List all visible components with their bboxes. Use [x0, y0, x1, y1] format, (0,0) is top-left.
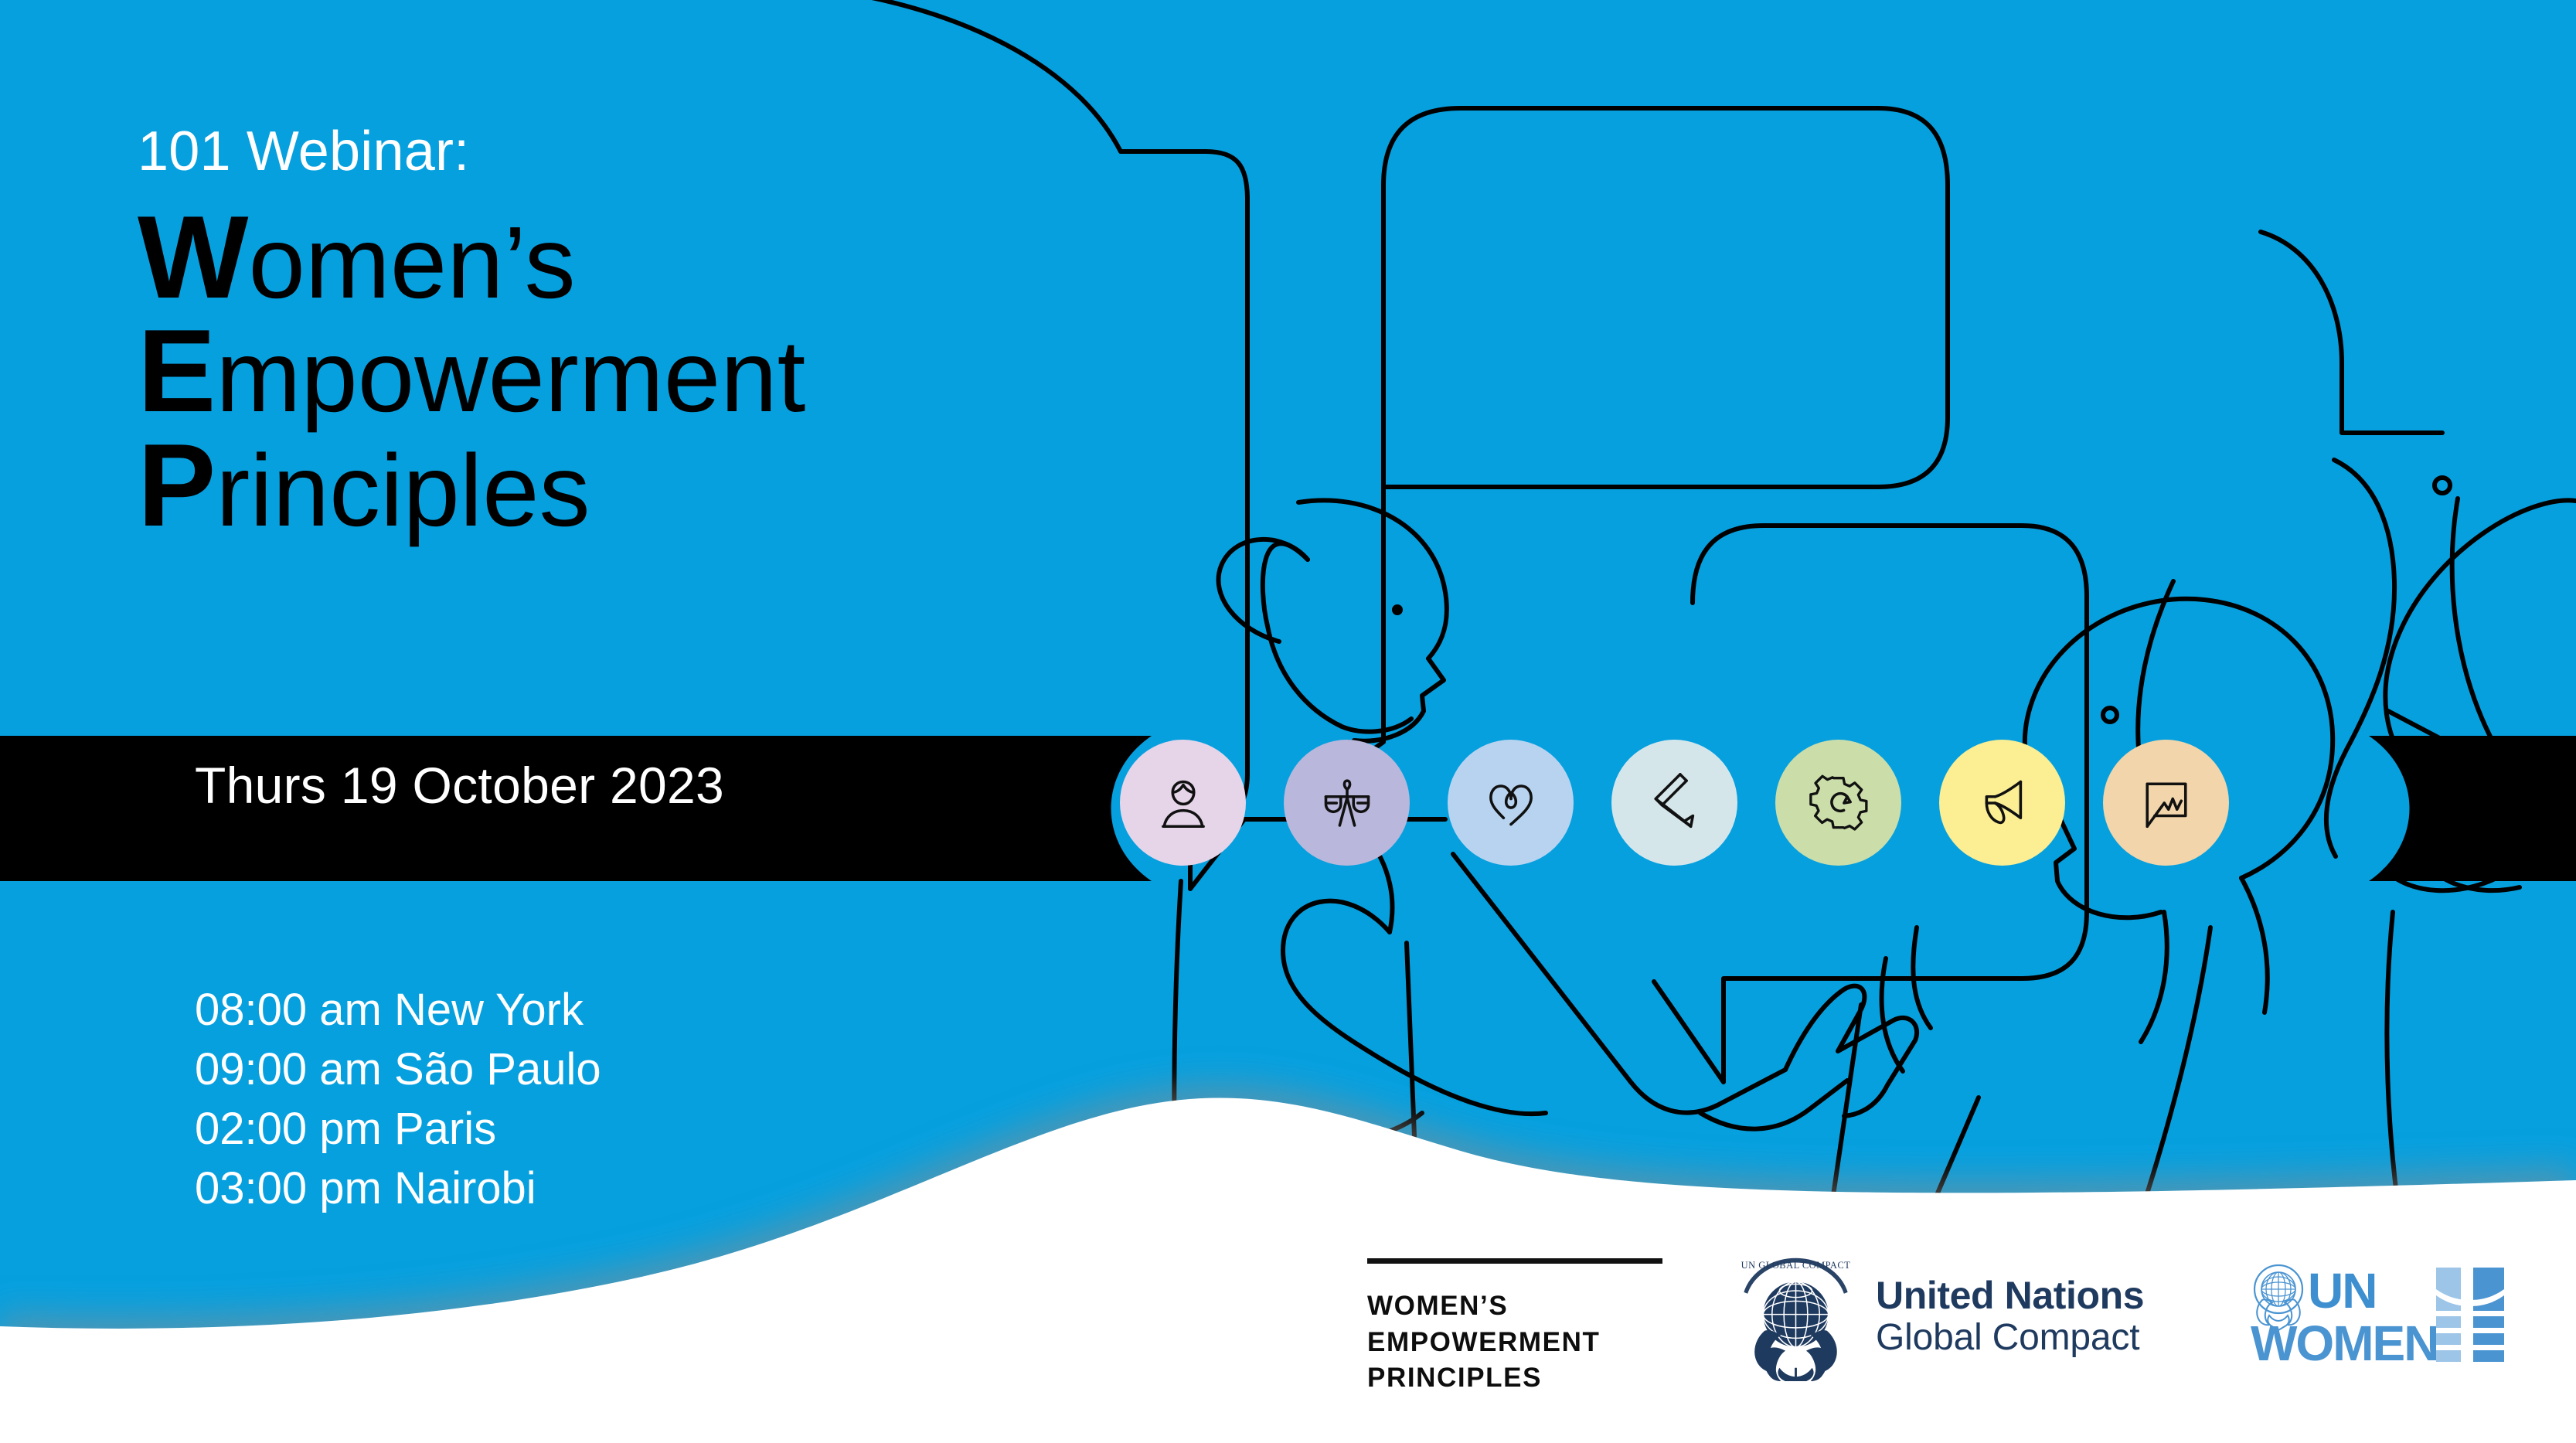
- white-wave-divider: [0, 0, 2576, 1443]
- webinar-poster: 101 Webinar: Women’s Empowerment Princip…: [0, 0, 2576, 1443]
